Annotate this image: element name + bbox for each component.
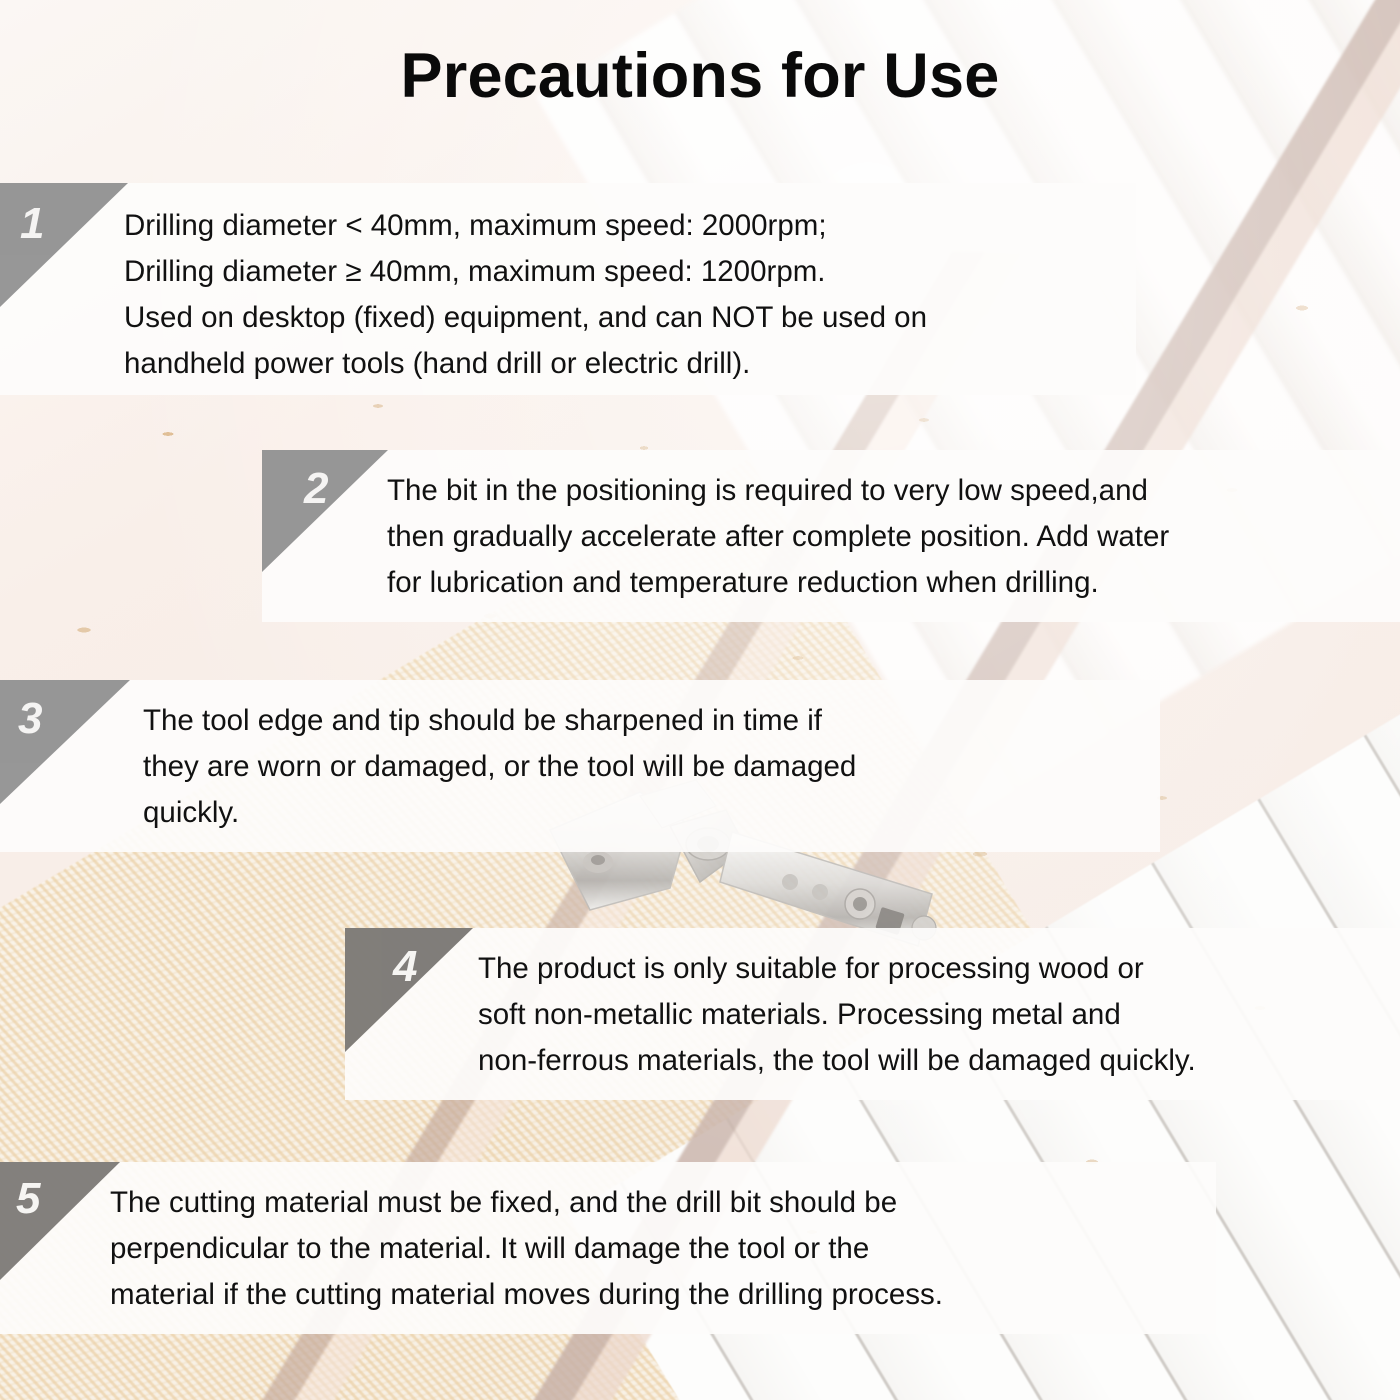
index-number-4: 4	[393, 942, 417, 992]
index-number-5: 5	[16, 1174, 40, 1224]
index-number-1: 1	[20, 199, 44, 249]
index-badge-5: 5	[0, 1162, 120, 1280]
page-title: Precautions for Use	[0, 40, 1400, 112]
precaution-item-3: 3 The tool edge and tip should be sharpe…	[0, 680, 1160, 852]
index-badge-1: 1	[0, 183, 128, 307]
precaution-item-1: 1 Drilling diameter < 40mm, maximum spee…	[0, 183, 1136, 395]
precaution-text-1: Drilling diameter < 40mm, maximum speed:…	[124, 203, 1124, 387]
precaution-text-3: The tool edge and tip should be sharpene…	[143, 698, 1143, 836]
precaution-text-2: The bit in the positioning is required t…	[387, 468, 1387, 606]
index-number-3: 3	[18, 694, 42, 744]
precaution-item-2: 2 The bit in the positioning is required…	[262, 450, 1400, 622]
precaution-item-5: 5 The cutting material must be fixed, an…	[0, 1162, 1216, 1334]
index-badge-3: 3	[0, 680, 130, 804]
index-badge-4: 4	[345, 928, 473, 1052]
index-number-2: 2	[304, 464, 328, 514]
precaution-item-4: 4 The product is only suitable for proce…	[345, 928, 1400, 1100]
index-badge-2: 2	[262, 450, 388, 572]
precaution-text-5: The cutting material must be fixed, and …	[110, 1180, 1200, 1318]
precaution-text-4: The product is only suitable for process…	[478, 946, 1400, 1084]
infographic-stage: Precautions for Use 1 Drilling diameter …	[0, 0, 1400, 1400]
